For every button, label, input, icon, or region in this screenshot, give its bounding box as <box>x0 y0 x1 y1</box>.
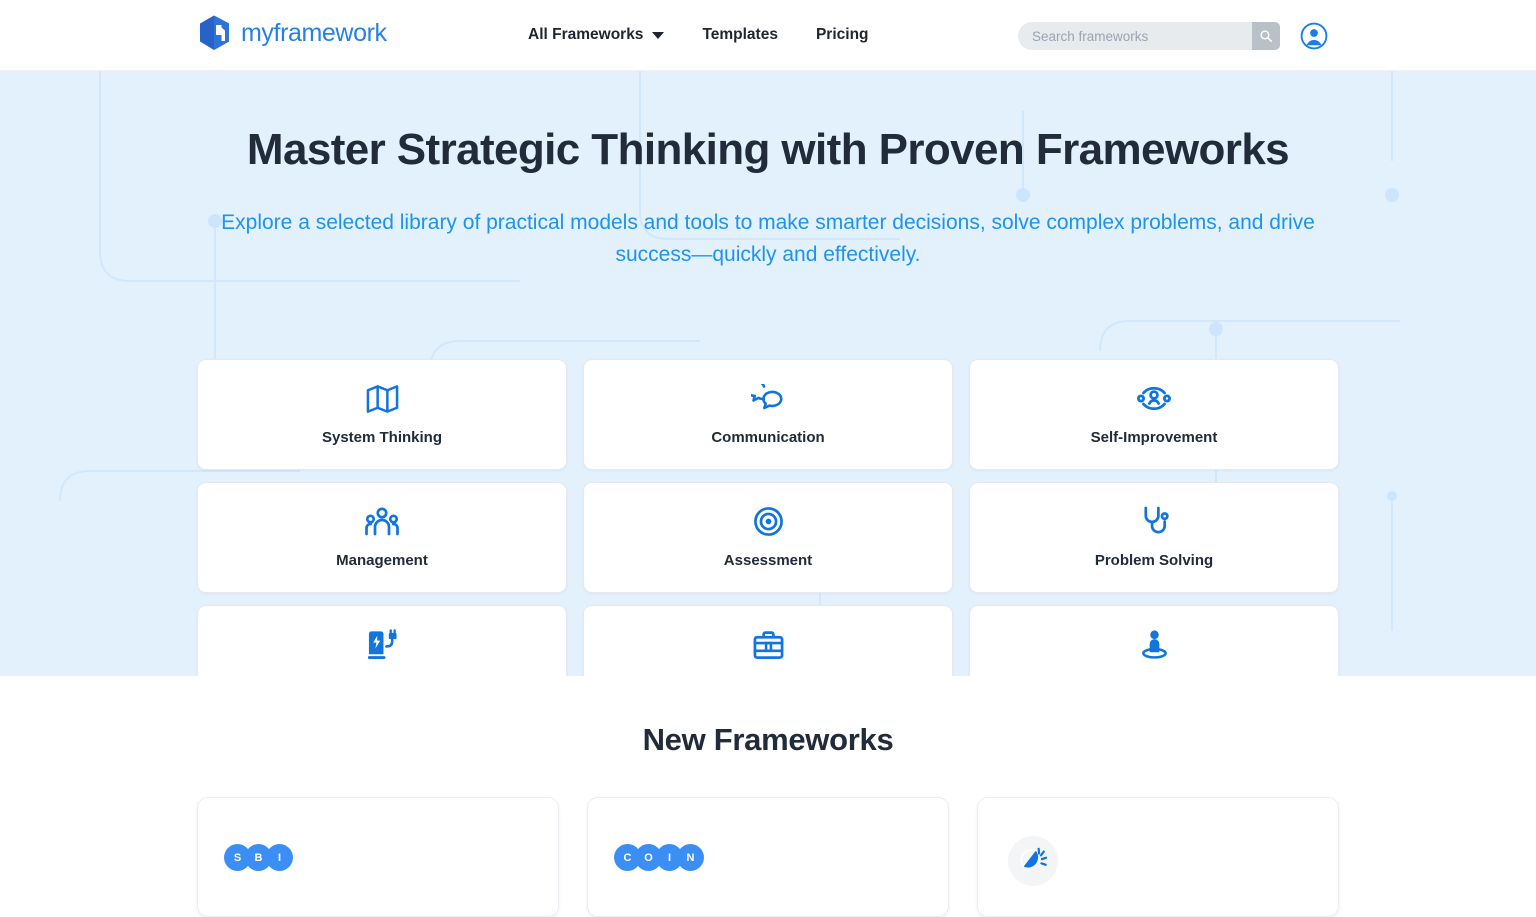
category-label: Assessment <box>724 552 812 569</box>
new-frameworks-title: New Frameworks <box>0 676 1536 758</box>
site-header: myframework All Frameworks Templates Pri… <box>0 0 1536 71</box>
target-icon <box>753 507 784 537</box>
letter-bubble: N <box>677 844 704 871</box>
map-icon <box>366 384 399 414</box>
nav-item-templates[interactable]: Templates <box>702 26 778 44</box>
category-card-system-thinking[interactable]: System Thinking <box>197 359 567 470</box>
framework-letters-badge: S B I <box>224 844 558 871</box>
category-card-marketing[interactable]: Marketing <box>969 605 1339 676</box>
category-label: Marketing <box>1119 675 1190 677</box>
framework-icon-badge <box>1008 836 1058 886</box>
category-label: Productivity <box>339 675 426 677</box>
category-card-assessment[interactable]: Assessment <box>583 482 953 593</box>
category-card-management[interactable]: Management <box>197 482 567 593</box>
chat-bubbles-icon <box>751 384 785 414</box>
framework-letters-badge: C O I N <box>614 844 948 871</box>
category-card-self-improvement[interactable]: Self-Improvement <box>969 359 1339 470</box>
new-frameworks-grid: S B I C O I N <box>197 797 1340 917</box>
framework-card-megaphone[interactable] <box>977 797 1339 917</box>
person-spotlight-icon <box>1139 630 1170 660</box>
letter-bubble: I <box>266 844 293 871</box>
framework-card-sbi[interactable]: S B I <box>197 797 559 917</box>
category-label: System Thinking <box>322 429 442 446</box>
charging-station-icon <box>366 630 399 660</box>
logo[interactable]: myframework <box>198 14 387 52</box>
main-nav: All Frameworks Templates Pricing <box>528 26 869 44</box>
search-bar <box>1018 22 1280 50</box>
search-input[interactable] <box>1018 22 1252 50</box>
category-grid: System Thinking Communication <box>197 359 1340 676</box>
nav-item-pricing[interactable]: Pricing <box>816 26 869 44</box>
stethoscope-icon <box>1139 507 1170 537</box>
category-label: Business <box>735 675 802 677</box>
category-card-productivity[interactable]: Productivity <box>197 605 567 676</box>
user-circle-icon[interactable] <box>1300 22 1328 50</box>
framework-card-coin[interactable]: C O I N <box>587 797 949 917</box>
briefcase-icon <box>753 630 784 660</box>
nav-label-all-frameworks: All Frameworks <box>528 26 643 44</box>
logo-text: myframework <box>241 19 387 48</box>
hero-subtitle: Explore a selected library of practical … <box>198 207 1338 271</box>
search-icon <box>1259 29 1273 43</box>
category-label: Communication <box>711 429 824 446</box>
category-card-business[interactable]: Business <box>583 605 953 676</box>
category-label: Problem Solving <box>1095 552 1213 569</box>
hero-section: Master Strategic Thinking with Proven Fr… <box>0 71 1536 676</box>
group-people-icon <box>365 507 399 537</box>
people-circle-icon <box>1137 384 1171 414</box>
category-card-problem-solving[interactable]: Problem Solving <box>969 482 1339 593</box>
chevron-down-icon <box>652 32 664 39</box>
megaphone-icon <box>1018 846 1048 876</box>
category-card-communication[interactable]: Communication <box>583 359 953 470</box>
cube-logo-icon <box>198 14 232 52</box>
hero-title: Master Strategic Thinking with Proven Fr… <box>0 125 1536 176</box>
search-button[interactable] <box>1252 22 1280 50</box>
category-label: Management <box>336 552 428 569</box>
nav-item-all-frameworks[interactable]: All Frameworks <box>528 26 664 44</box>
category-label: Self-Improvement <box>1091 429 1218 446</box>
